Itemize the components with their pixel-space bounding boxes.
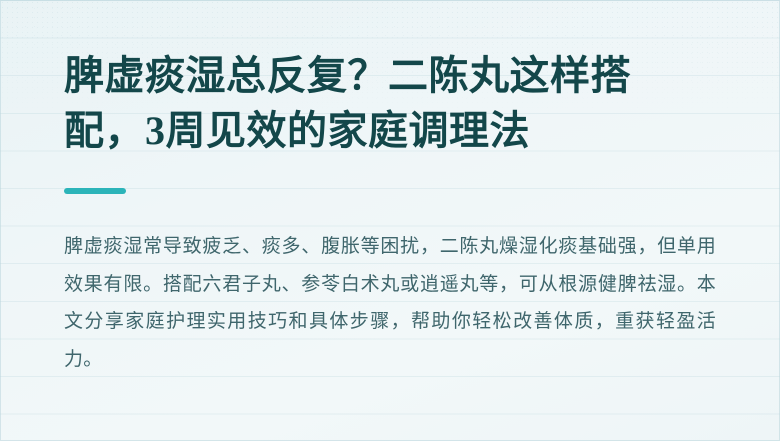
page-title: 脾虚痰湿总反复？二陈丸这样搭配，3周见效的家庭调理法 <box>64 0 664 158</box>
article-hero-card: 脾虚痰湿总反复？二陈丸这样搭配，3周见效的家庭调理法 脾虚痰湿常导致疲乏、痰多、… <box>0 0 780 441</box>
card-content: 脾虚痰湿总反复？二陈丸这样搭配，3周见效的家庭调理法 脾虚痰湿常导致疲乏、痰多、… <box>0 0 780 378</box>
article-summary: 脾虚痰湿常导致疲乏、痰多、腹胀等困扰，二陈丸燥湿化痰基础强，但单用效果有限。搭配… <box>64 194 716 378</box>
